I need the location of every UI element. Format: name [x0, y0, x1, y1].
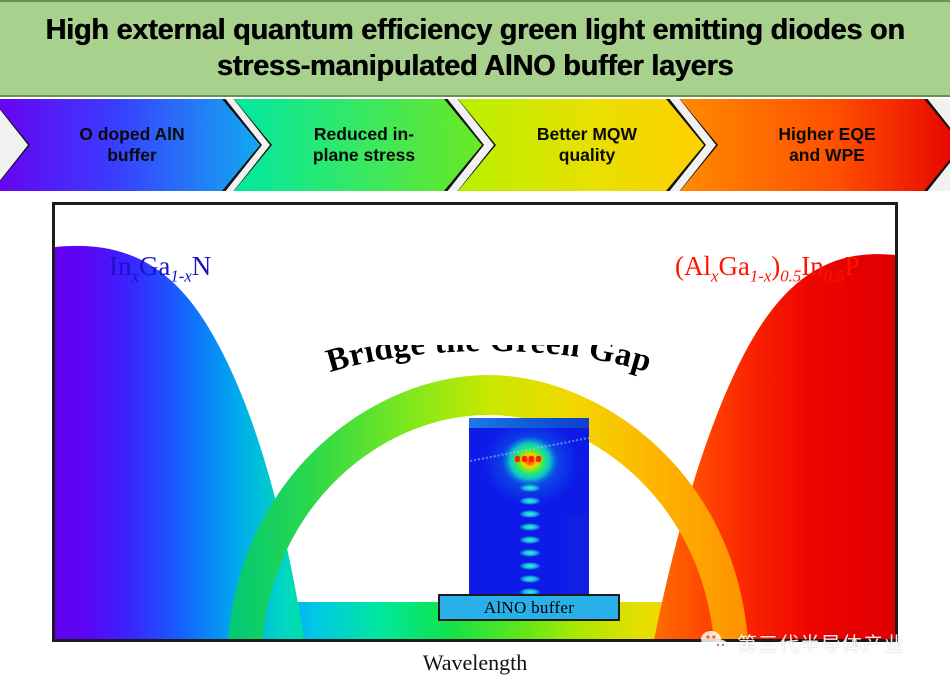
- hotspot-dots: [515, 456, 541, 462]
- simulation-inset-image: [469, 418, 589, 596]
- flow-step-1[interactable]: O doped AlN buffer: [0, 99, 260, 191]
- flow-step-3-label: Better MQW quality: [511, 124, 651, 166]
- plot-frame: Bridge the Green Gap InxGa1-xN (AlxGa1-x…: [52, 202, 898, 642]
- svg-text:Bridge the Green Gap: Bridge the Green Gap: [322, 345, 656, 380]
- algainp-formula: (AlxGa1-x)0.5In0.5P: [675, 253, 860, 285]
- inset-shade: [567, 514, 589, 596]
- x-axis-label: Wavelength: [0, 650, 950, 676]
- title-band: High external quantum efficiency green l…: [0, 0, 950, 97]
- ingan-formula: InxGa1-xN: [109, 253, 211, 285]
- flow-step-2-label: Reduced in- plane stress: [287, 124, 429, 166]
- dislocation-chain: [519, 484, 541, 596]
- flow-step-1-label: O doped AlN buffer: [53, 124, 198, 166]
- flow-step-4-label: Higher EQE and WPE: [752, 124, 889, 166]
- chart-area: Wall Plug Efficiency: [0, 193, 950, 684]
- arch-text-content: Bridge the Green Gap: [322, 345, 656, 380]
- alno-buffer-label: AlNO buffer: [484, 598, 574, 618]
- process-flow-banner: O doped AlN buffer Reduced in- plane str…: [0, 99, 950, 191]
- flow-step-4[interactable]: Higher EQE and WPE: [680, 99, 950, 191]
- alno-buffer-box: AlNO buffer: [438, 594, 620, 621]
- page-title: High external quantum efficiency green l…: [0, 13, 950, 84]
- slide-root: High external quantum efficiency green l…: [0, 0, 950, 684]
